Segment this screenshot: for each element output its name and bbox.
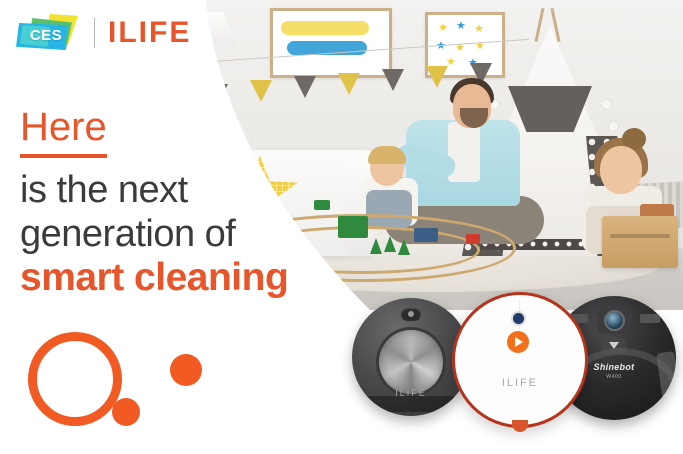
bumper — [362, 396, 460, 412]
center-robot-label: ILIFE — [455, 377, 585, 389]
toy-crate — [602, 216, 678, 268]
logo-divider — [94, 18, 95, 48]
small-dot — [112, 398, 140, 426]
headline-block: Here is the next generation of smart cle… — [20, 104, 320, 300]
toddler-hair — [368, 146, 406, 164]
right-robot-button-b[interactable] — [640, 314, 660, 323]
ring-circle — [28, 332, 122, 426]
center-robot-vacuum[interactable]: ILIFE — [452, 292, 588, 428]
girl-head — [600, 146, 642, 194]
headline-line-3: generation of — [20, 212, 320, 256]
headline-here: Here — [20, 104, 107, 158]
medium-dot — [170, 354, 202, 386]
headline-line-4: smart cleaning — [20, 256, 288, 299]
banner-root: ★ ★ ★ ★ ★ ★ ★ ★ — [0, 0, 683, 454]
ces-logo-icon: CES — [16, 14, 82, 52]
metal-button-icon[interactable] — [379, 330, 443, 394]
front-bumper-nub — [512, 420, 528, 432]
ces-logo-text: CES — [22, 27, 70, 44]
headline-line-2: is the next — [20, 168, 320, 212]
sensor-icon — [513, 313, 524, 324]
camera-icon — [597, 308, 631, 334]
ilife-logo-text: ILIFE — [108, 16, 191, 50]
lidar-icon — [401, 308, 421, 321]
play-button-icon[interactable] — [507, 331, 529, 353]
brand-logo[interactable]: CES ILIFE — [16, 12, 191, 54]
